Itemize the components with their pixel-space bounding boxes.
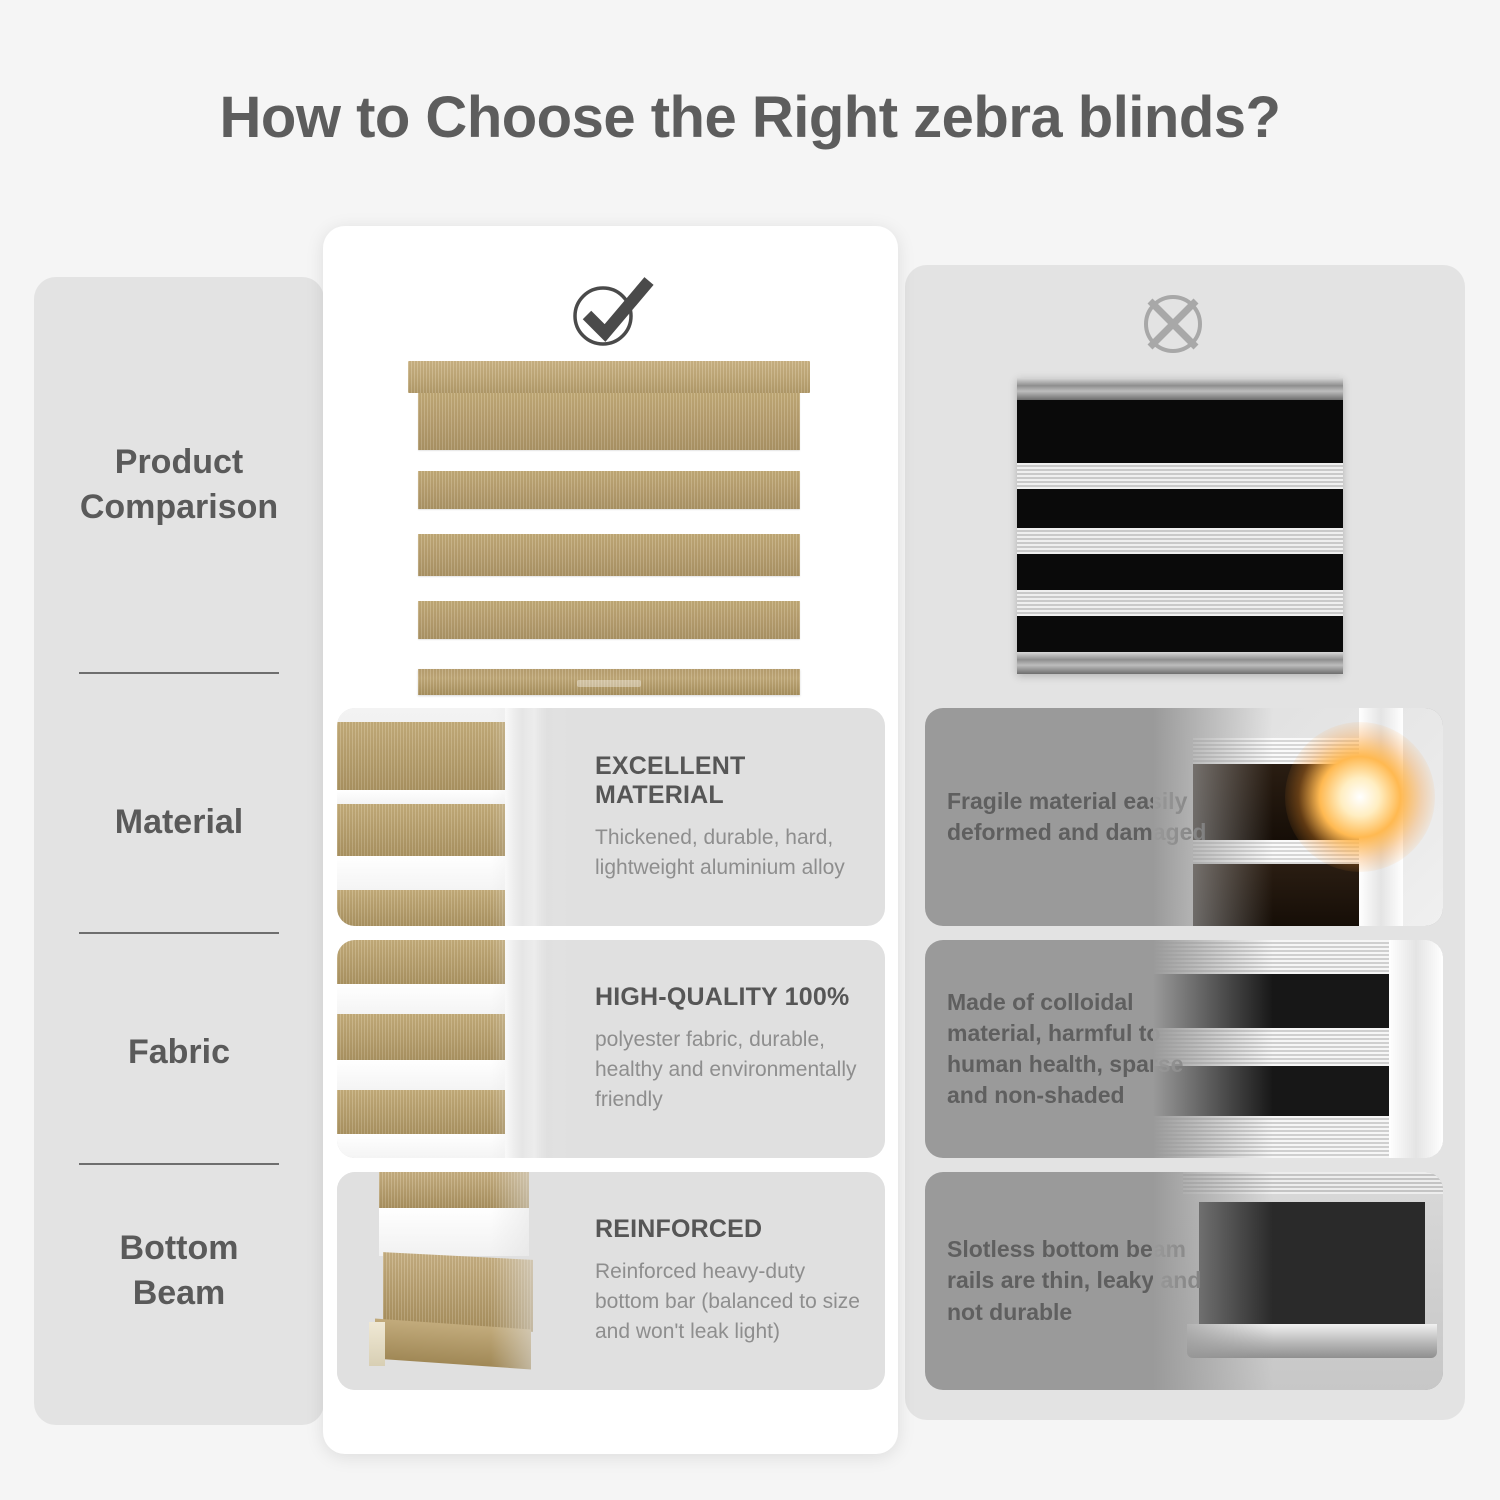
sun-flare-icon (1285, 722, 1435, 872)
sheer-stripe (1183, 1172, 1443, 1194)
material-text-block: EXCELLENT MATERIAL Thickened, durable, h… (595, 708, 869, 926)
blind-slat (418, 601, 800, 639)
sheer-stripe (1017, 463, 1343, 489)
material-photo (337, 708, 569, 926)
blind-slat (337, 890, 505, 926)
headrail (408, 361, 810, 393)
sidebar-item-bottom-beam: Bottom Beam (34, 1226, 324, 1316)
sidebar-divider-3 (79, 1163, 279, 1165)
feature-heading: EXCELLENT MATERIAL (595, 752, 869, 810)
dark-blind-panel (1193, 864, 1363, 926)
dark-blind-panel (1199, 1202, 1425, 1324)
window-moulding (505, 708, 567, 926)
feature-card-fabric[interactable]: HIGH-QUALITY 100% polyester fabric, dura… (337, 940, 885, 1158)
blind-slat (337, 1014, 505, 1060)
feature-heading: REINFORCED (595, 1215, 869, 1244)
feature-card-bottom-beam[interactable]: REINFORCED Reinforced heavy-duty bottom … (337, 1172, 885, 1390)
sheer-stripe (337, 790, 505, 804)
good-product-image (408, 361, 810, 701)
fabric-photo (337, 940, 569, 1158)
feature-body: Thickened, durable, hard, lightweight al… (595, 823, 869, 883)
slotless-rail-photo (1153, 1172, 1443, 1390)
sparse-fabric-photo (1153, 940, 1443, 1158)
feature-card-material[interactable]: EXCELLENT MATERIAL Thickened, durable, h… (337, 708, 885, 926)
blind-slat (337, 804, 505, 856)
sidebar-label-product-comparison: Product Comparison (80, 443, 278, 526)
blind-slat (418, 393, 800, 450)
bad-card-bottom-beam[interactable]: Slotless bottom beam rails are thin, lea… (925, 1172, 1443, 1390)
bottom-bar (418, 669, 800, 695)
blind-slat (337, 940, 505, 984)
feature-body: Reinforced heavy-duty bottom bar (balanc… (595, 1257, 869, 1346)
check-circle-icon (561, 271, 661, 356)
bottom-bar-endcap (369, 1322, 385, 1366)
bad-card-material[interactable]: Fragile material easily deformed and dam… (925, 708, 1443, 926)
window-moulding (505, 940, 567, 1158)
sidebar-item-product-comparison: Product Comparison (34, 440, 324, 530)
metal-headrail (1017, 378, 1343, 400)
sidebar-divider-1 (79, 672, 279, 674)
blind-slat (337, 722, 505, 790)
sheer-stripe (337, 1134, 505, 1158)
blind-slat (418, 534, 800, 576)
page-title: How to Choose the Right zebra blinds? (0, 84, 1500, 151)
x-circle-icon (1137, 288, 1209, 365)
bad-card-fabric[interactable]: Made of colloidal material, harmful to h… (925, 940, 1443, 1158)
sheer-stripe (379, 1208, 529, 1256)
sheer-stripe (1017, 590, 1343, 616)
feature-body: polyester fabric, durable, healthy and e… (595, 1025, 869, 1114)
light-leak-photo (1153, 708, 1443, 926)
blind-slat (418, 471, 800, 509)
sidebar-label-fabric: Fabric (128, 1033, 230, 1071)
thin-bottom-rail (1187, 1324, 1437, 1358)
sidebar-label-material: Material (115, 803, 244, 841)
sheer-stripe (337, 984, 505, 1014)
bottom-beam-text-block: REINFORCED Reinforced heavy-duty bottom … (595, 1172, 869, 1390)
sidebar-item-fabric: Fabric (34, 1030, 324, 1075)
feature-heading: HIGH-QUALITY 100% (595, 983, 869, 1012)
window-jamb (1389, 940, 1443, 1158)
bad-product-image (1017, 378, 1343, 674)
sheer-stripe (1017, 528, 1343, 554)
blind-slat (379, 1172, 529, 1208)
sheer-stripe (337, 1060, 505, 1090)
bottom-beam-photo (337, 1172, 569, 1390)
sidebar-label-bottom-beam: Bottom Beam (120, 1229, 239, 1312)
sidebar-item-material: Material (34, 800, 324, 845)
fabric-text-block: HIGH-QUALITY 100% polyester fabric, dura… (595, 940, 869, 1158)
metal-bottom-rail (1017, 652, 1343, 674)
sheer-stripe (337, 856, 505, 890)
blind-slat (337, 1090, 505, 1134)
sidebar-divider-2 (79, 932, 279, 934)
